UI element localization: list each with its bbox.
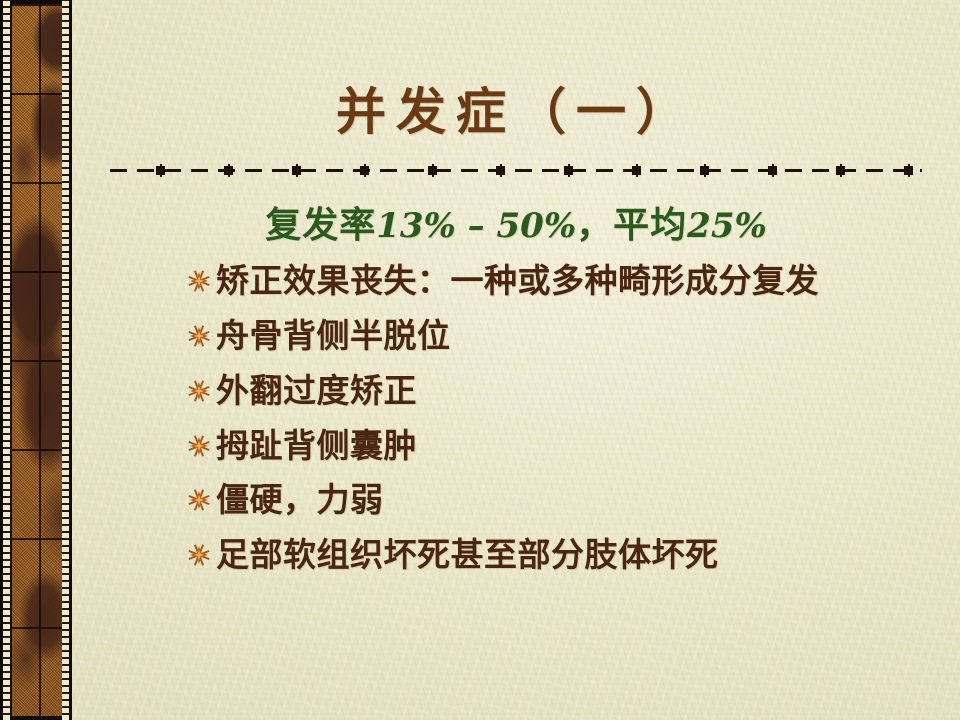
border-edge-left [0, 0, 3, 720]
star-burst-bullet-icon [188, 435, 210, 457]
slide-title: 并发症（一） [72, 72, 960, 144]
subtitle-average-label: 平均 [613, 205, 687, 246]
star-burst-bullet-icon [188, 325, 210, 347]
list-item: 足部软组织坏死甚至部分肢体坏死 [188, 532, 948, 579]
border-light-strip-left [3, 0, 10, 720]
slide-content: 并发症（一） 复发率13% – 50%，平均25% [72, 0, 960, 720]
divider-square-marker [632, 164, 641, 177]
list-item: 舟骨背侧半脱位 [188, 313, 948, 360]
list-item-label: 舟骨背侧半脱位 [216, 313, 451, 360]
subtitle-range: 13% – 50% [376, 206, 576, 246]
subtitle-prefix: 复发率 [265, 205, 376, 246]
star-burst-bullet-icon [188, 270, 210, 292]
divider-square-marker [156, 164, 165, 177]
divider-square-marker [768, 164, 777, 177]
border-light-strip-right [62, 0, 69, 720]
divider-square-marker [564, 164, 573, 177]
divider-square-marker [224, 164, 233, 177]
divider-square-marker [904, 164, 913, 177]
list-item-label: 拇趾背侧囊肿 [216, 423, 417, 470]
list-item: 僵硬，力弱 [188, 477, 948, 524]
subtitle-comma: ， [576, 205, 613, 246]
list-item-label: 僵硬，力弱 [216, 477, 384, 524]
list-item-label: 足部软组织坏死甚至部分肢体坏死 [216, 532, 719, 579]
bullet-list: 矫正效果丧失：一种或多种畸形成分复发 [188, 258, 948, 587]
star-burst-bullet-icon [188, 544, 210, 566]
subtitle-average-value: 25% [687, 206, 767, 246]
divider-square-marker [428, 164, 437, 177]
presentation-slide: 并发症（一） 复发率13% – 50%，平均25% [0, 0, 960, 720]
star-burst-bullet-icon [188, 489, 210, 511]
border-texture-fill [12, 4, 68, 716]
list-item-label: 矫正效果丧失：一种或多种畸形成分复发 [216, 258, 819, 305]
divider-square-marker [292, 164, 301, 177]
list-item: 外翻过度矫正 [188, 368, 948, 415]
divider-square-marker [496, 164, 505, 177]
dash-dot-divider [110, 163, 922, 177]
star-burst-bullet-icon [188, 380, 210, 402]
divider-square-marker [836, 164, 845, 177]
list-item: 矫正效果丧失：一种或多种畸形成分复发 [188, 258, 948, 305]
recurrence-rate-subtitle: 复发率13% – 50%，平均25% [110, 196, 922, 248]
divider-square-marker [360, 164, 369, 177]
list-item: 拇趾背侧囊肿 [188, 423, 948, 470]
divider-square-marker [700, 164, 709, 177]
border-grid-lines [12, 4, 68, 716]
list-item-label: 外翻过度矫正 [216, 368, 417, 415]
decorative-border-panel [0, 0, 72, 720]
